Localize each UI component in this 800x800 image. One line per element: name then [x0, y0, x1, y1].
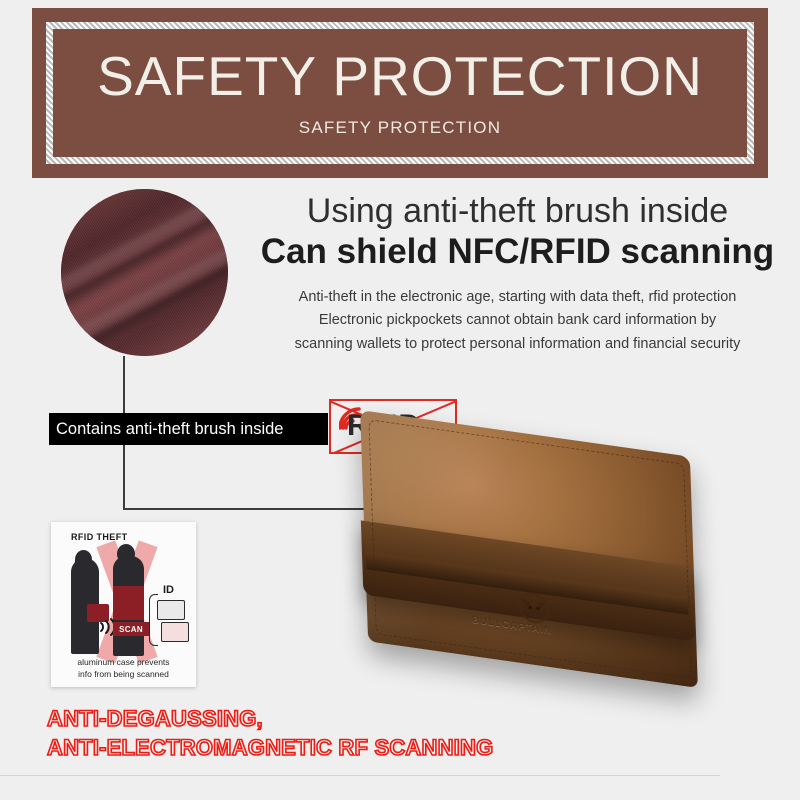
wallet-product-image: BULLCAPTAIN — [352, 424, 800, 752]
footer-headline: ANTI-DEGAUSSING, ANTI-ELECTROMAGNETIC RF… — [47, 704, 493, 763]
theft-card-title: RFID THEFT — [71, 532, 128, 542]
page-subtitle: SAFETY PROTECTION — [299, 118, 501, 138]
rfid-theft-illustration-card: RFID THEFT SCAN ID aluminum case prevent… — [51, 522, 196, 687]
banner-hatched-frame: SAFETY PROTECTION SAFETY PROTECTION — [46, 22, 754, 164]
footer-headline-line-2: ANTI-ELECTROMAGNETIC RF SCANNING — [47, 733, 493, 762]
theft-card-caption: aluminum case prevents info from being s… — [61, 656, 186, 681]
banner-face: SAFETY PROTECTION SAFETY PROTECTION — [53, 29, 747, 157]
bank-card-icon — [161, 622, 189, 642]
theft-caption-line-2: info from being scanned — [61, 668, 186, 680]
theft-caption-line-1: aluminum case prevents — [61, 656, 186, 668]
promo-page: SAFETY PROTECTION SAFETY PROTECTION Usin… — [0, 0, 800, 800]
thief-torso-highlight — [113, 586, 144, 620]
headline-line-2: Can shield NFC/RFID scanning — [250, 232, 785, 272]
paragraph-line-3: scanning wallets to protect personal inf… — [250, 333, 785, 356]
fabric-swatch-image — [61, 189, 228, 356]
headline-block: Using anti-theft brush inside Can shield… — [250, 192, 785, 356]
paragraph-line-1: Anti-theft in the electronic age, starti… — [250, 286, 785, 309]
id-label: ID — [163, 584, 174, 596]
footer-headline-line-1: ANTI-DEGAUSSING, — [47, 704, 493, 733]
callout-label-text: Contains anti-theft brush inside — [56, 420, 283, 439]
header-banner: SAFETY PROTECTION SAFETY PROTECTION — [32, 8, 768, 178]
id-card-icon — [157, 600, 185, 620]
paragraph-line-2: Electronic pickpockets cannot obtain ban… — [250, 309, 785, 332]
bottom-divider — [0, 775, 720, 776]
wallet-stitching — [368, 419, 691, 679]
description-paragraph: Anti-theft in the electronic age, starti… — [250, 286, 785, 356]
callout-label-bar: Contains anti-theft brush inside — [49, 413, 328, 445]
scan-label: SCAN — [113, 622, 149, 636]
page-title: SAFETY PROTECTION — [97, 49, 703, 104]
headline-line-1: Using anti-theft brush inside — [250, 192, 785, 230]
